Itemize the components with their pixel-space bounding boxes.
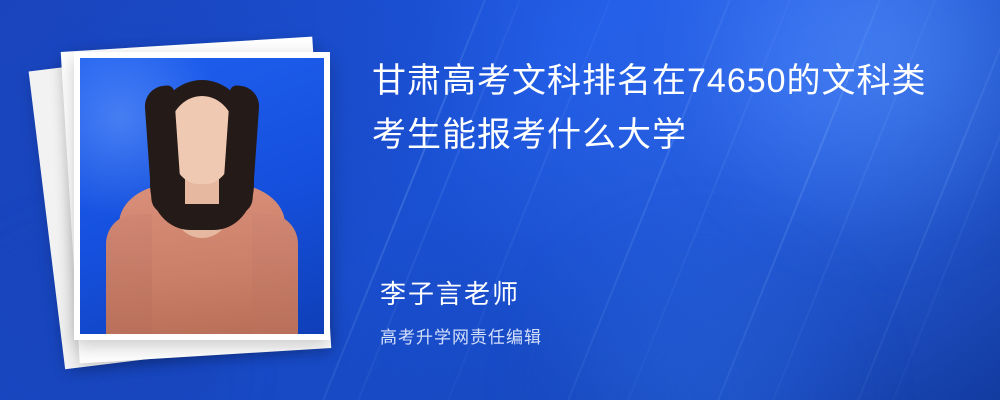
photo-card-stack bbox=[46, 30, 346, 370]
page-title: 甘肃高考文科排名在74650的文科类考生能报考什么大学 bbox=[372, 54, 932, 162]
headline-block: 甘肃高考文科排名在74650的文科类考生能报考什么大学 bbox=[372, 54, 960, 162]
portrait-photo bbox=[80, 58, 324, 334]
author-name: 李子言老师 bbox=[380, 274, 542, 311]
article-cover-banner: 甘肃高考文科排名在74650的文科类考生能报考什么大学 李子言老师 高考升学网责… bbox=[0, 0, 1000, 400]
figure-shoulder-right bbox=[252, 214, 298, 334]
author-role: 高考升学网责任编辑 bbox=[380, 323, 542, 348]
author-block: 李子言老师 高考升学网责任编辑 bbox=[380, 274, 542, 348]
photo-card-front bbox=[74, 52, 330, 340]
glow-highlight-bottom-right bbox=[520, 210, 880, 400]
figure-shoulder-left bbox=[106, 214, 152, 334]
